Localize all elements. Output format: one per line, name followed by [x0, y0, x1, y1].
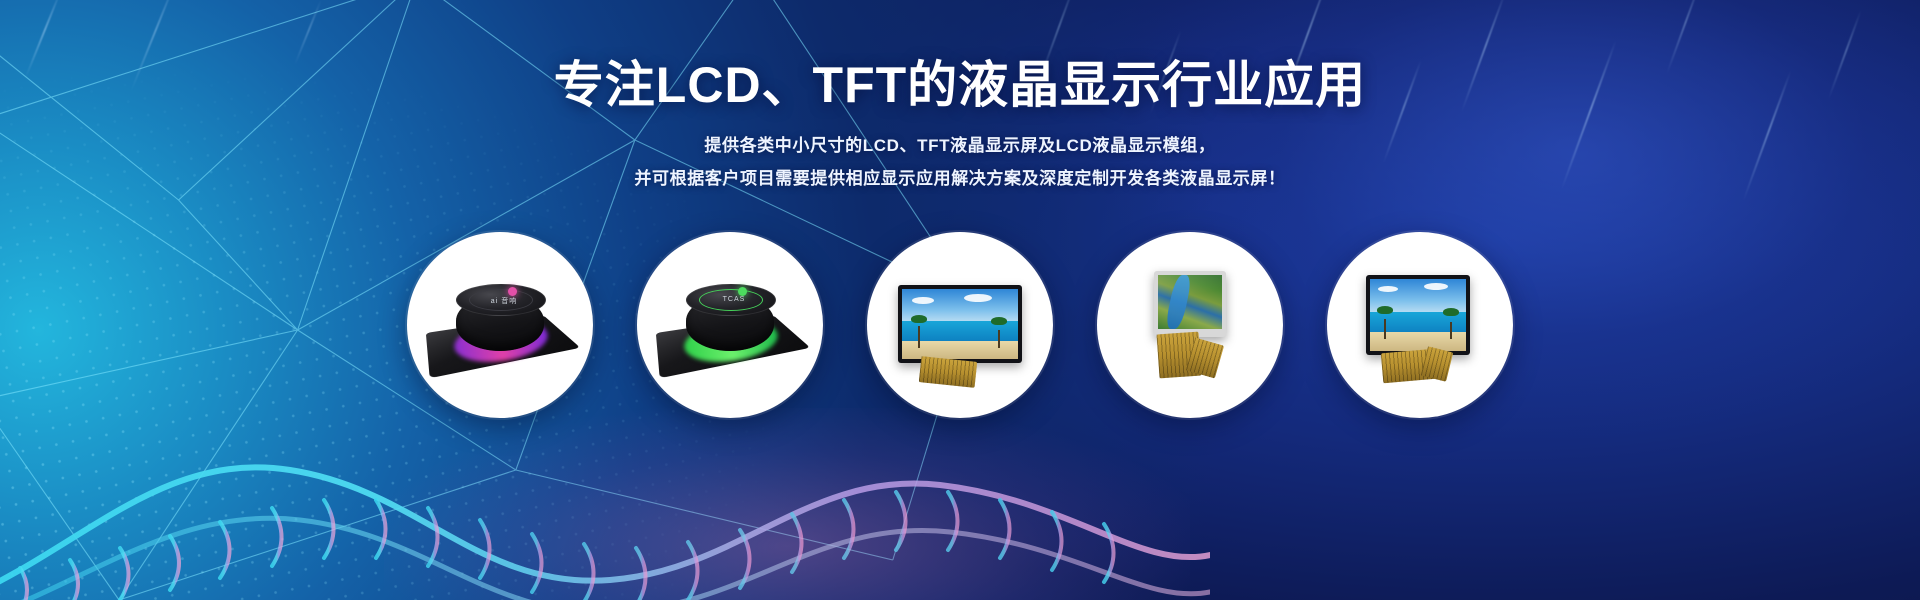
product-image-smart-speaker-purple: ai 音响 — [412, 237, 588, 413]
display-screen — [1370, 279, 1466, 351]
product-image-smart-speaker-green: TCAS — [642, 237, 818, 413]
screen-palm-leaves — [1443, 308, 1459, 316]
banner-copy: 专注LCD、TFT的液晶显示行业应用 提供各类中小尺寸的LCD、TFT液晶显示屏… — [0, 58, 1920, 195]
product-circle-tft-lcd-display-wide[interactable] — [867, 232, 1053, 418]
hero-banner: 专注LCD、TFT的液晶显示行业应用 提供各类中小尺寸的LCD、TFT液晶显示屏… — [0, 0, 1920, 600]
screen-palm-leaves — [991, 317, 1007, 325]
product-gallery: ai 音响 TCAS — [0, 232, 1920, 418]
status-led-icon — [508, 287, 517, 296]
product-image-tft-lcd-display-wide — [872, 237, 1048, 413]
device-label: ai 音响 — [474, 296, 534, 306]
banner-subtitle: 提供各类中小尺寸的LCD、TFT液晶显示屏及LCD液晶显示模组， 并可根据客户项… — [0, 129, 1920, 195]
screen-cloud — [1424, 283, 1448, 290]
product-circle-tft-lcd-module-small[interactable] — [1097, 232, 1283, 418]
product-image-tft-lcd-display-standard — [1332, 237, 1508, 413]
product-circle-smart-speaker-green[interactable]: TCAS — [637, 232, 823, 418]
subtitle-line-1: 提供各类中小尺寸的LCD、TFT液晶显示屏及LCD液晶显示模组， — [704, 136, 1215, 155]
product-image-tft-lcd-module-small — [1102, 237, 1278, 413]
display-screen — [902, 289, 1018, 359]
subtitle-line-2: 并可根据客户项目需要提供相应显示应用解决方案及深度定制开发各类液晶显示屏！ — [634, 169, 1285, 188]
display-screen — [1158, 275, 1222, 329]
screen-palm-trunk — [918, 326, 920, 348]
status-led-icon — [738, 287, 747, 296]
screen-palm-trunk — [1384, 319, 1386, 339]
flex-ribbon-cable — [919, 356, 977, 388]
screen-palm-trunk — [1450, 322, 1452, 339]
pink-glow — [384, 408, 1190, 600]
screen-cloud — [1378, 286, 1398, 292]
product-circle-tft-lcd-display-standard[interactable] — [1327, 232, 1513, 418]
screen-cloud — [964, 294, 992, 302]
flex-ribbon-cable — [1421, 346, 1453, 381]
screen-palm-leaves — [911, 315, 927, 323]
page-title: 专注LCD、TFT的液晶显示行业应用 — [0, 58, 1920, 113]
screen-palm-trunk — [998, 330, 1000, 348]
screen-palm-leaves — [1377, 306, 1393, 314]
screen-cloud — [912, 297, 934, 304]
product-circle-smart-speaker-purple[interactable]: ai 音响 — [407, 232, 593, 418]
device-label: TCAS — [704, 296, 764, 303]
